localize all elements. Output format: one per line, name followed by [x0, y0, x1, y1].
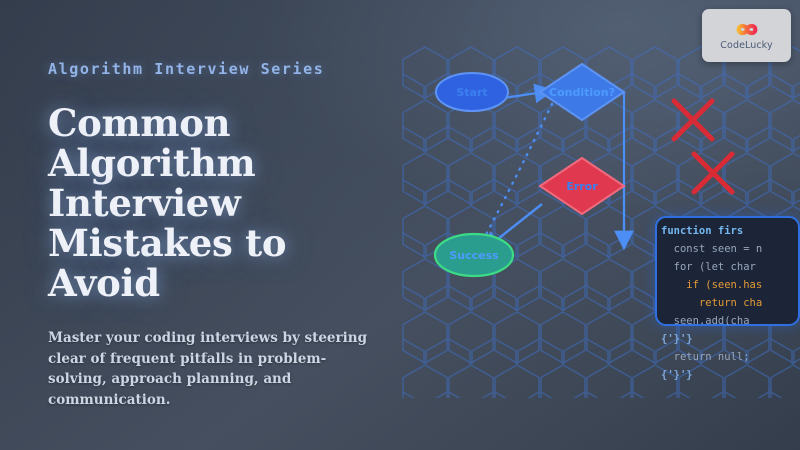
flow-node-start-label: Start	[456, 86, 487, 99]
brand-logo[interactable]: CodeLucky	[702, 9, 791, 62]
flow-node-success-label: Success	[449, 249, 499, 262]
code-snippet-card	[655, 216, 800, 326]
infinity-icon	[729, 20, 765, 39]
flow-node-condition-label: Condition?	[549, 86, 615, 99]
flow-node-success[interactable]: Success	[435, 234, 513, 276]
slide-canvas: Algorithm Interview Series Common Algori…	[0, 0, 800, 450]
series-eyebrow: Algorithm Interview Series	[48, 60, 378, 78]
flow-node-error-label: Error	[566, 180, 598, 193]
x-mark-1-icon	[674, 101, 712, 139]
hero-subtitle: Master your coding interviews by steerin…	[48, 328, 370, 411]
page-title: Common Algorithm Interview Mistakes to A…	[48, 104, 378, 304]
flow-node-start[interactable]: Start	[436, 73, 508, 111]
hero-text-column: Algorithm Interview Series Common Algori…	[48, 60, 378, 411]
x-mark-2-icon	[694, 154, 732, 192]
brand-wordmark: CodeLucky	[720, 40, 772, 51]
flow-node-condition[interactable]: Condition?	[540, 64, 624, 120]
flow-node-error[interactable]: Error	[540, 158, 624, 214]
